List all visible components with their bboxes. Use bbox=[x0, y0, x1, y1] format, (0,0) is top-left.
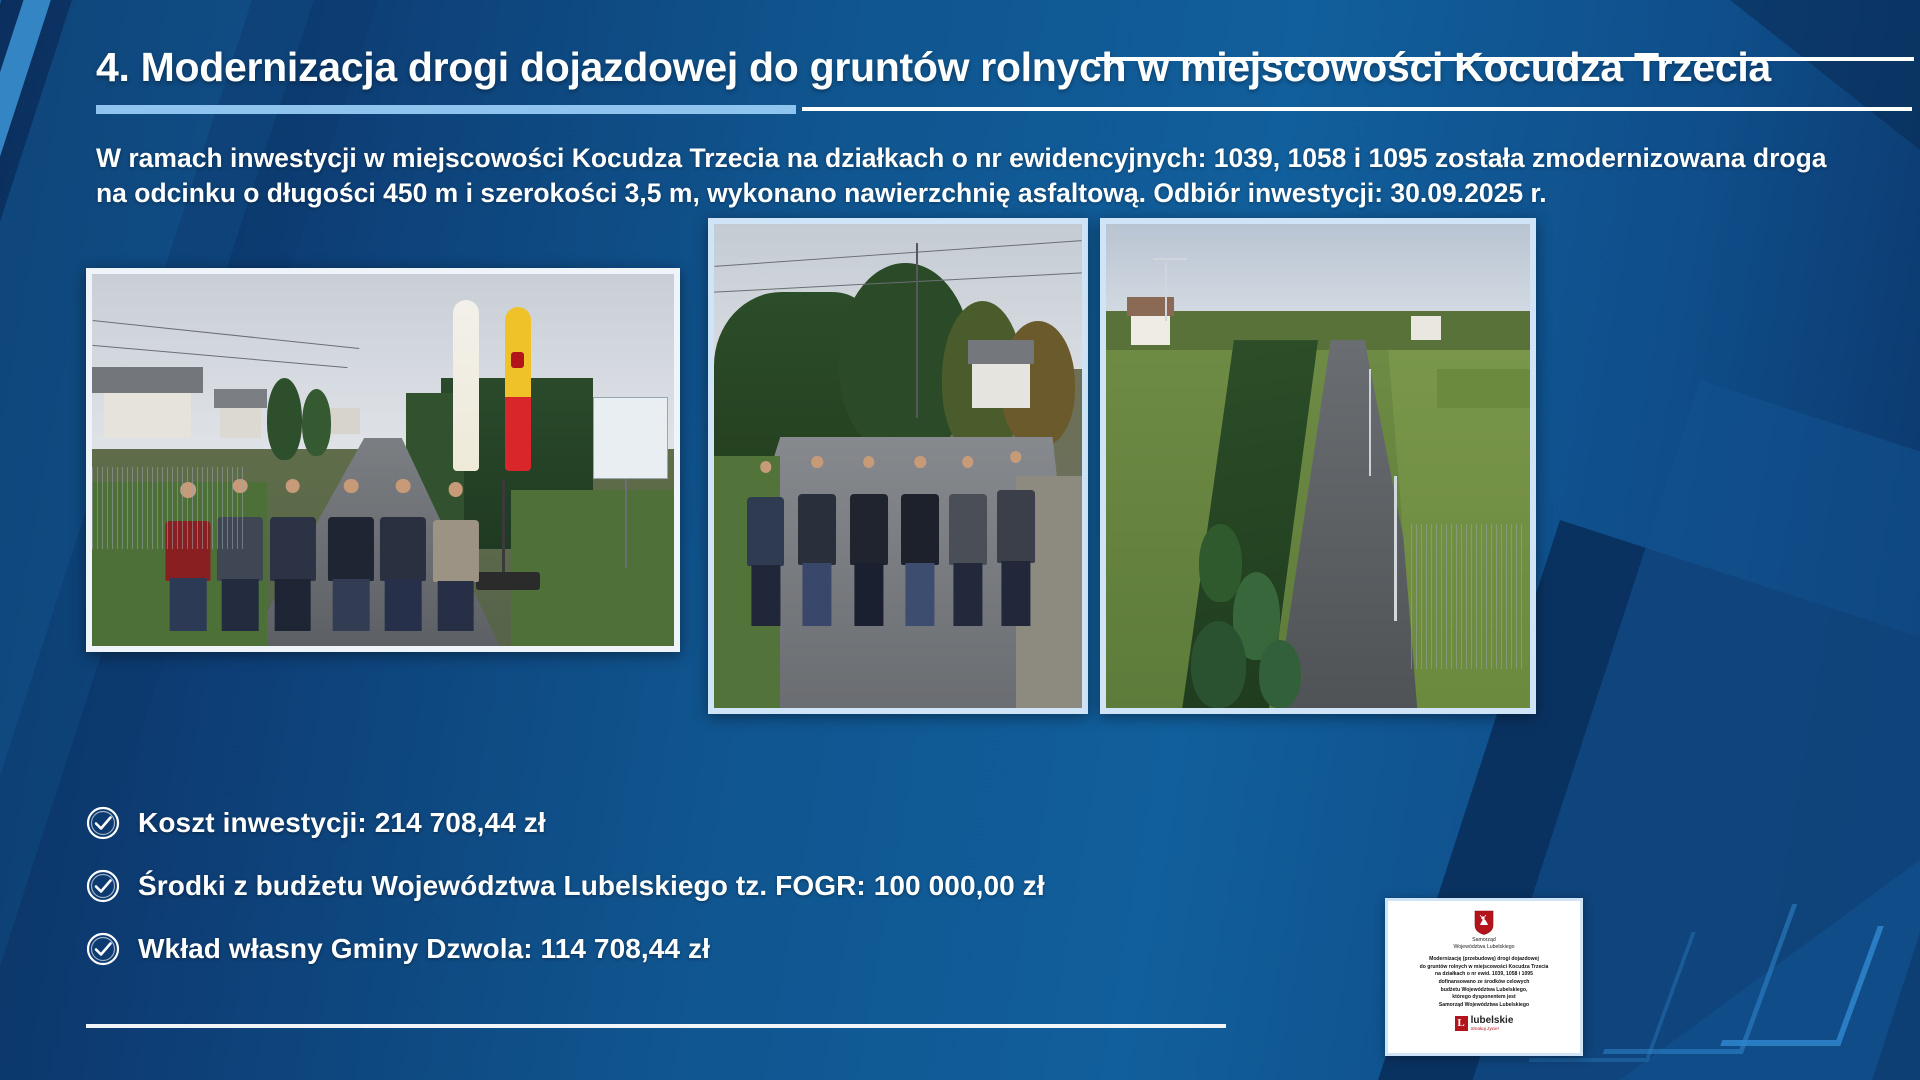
facts-list: Koszt inwestycji: 214 708,44 zł Środki z… bbox=[86, 806, 1045, 995]
plaque-body-line1: Modernizację (przebudowę) drogi dojazdow… bbox=[1420, 956, 1549, 964]
title-rules bbox=[96, 105, 1900, 119]
lubelskie-logo: L lubelskie Smakuj życie! bbox=[1455, 1016, 1514, 1032]
plaque-organisation: Samorząd Województwa Lubelskiego bbox=[1453, 937, 1514, 951]
logo-letter: L bbox=[1455, 1016, 1468, 1031]
plaque-body-line7: Samorząd Województwa Lubelskiego bbox=[1420, 1002, 1549, 1010]
plaque-body: Modernizację (przebudowę) drogi dojazdow… bbox=[1420, 956, 1549, 1009]
list-item: Środki z budżetu Województwa Lubelskiego… bbox=[86, 869, 1045, 903]
plaque-body-line6: którego dysponentem jest bbox=[1420, 994, 1549, 1002]
logo-wordmark: lubelskie bbox=[1471, 1016, 1514, 1026]
check-circle-icon bbox=[86, 806, 120, 840]
list-item-label: Wkład własny Gminy Dzwola: 114 708,44 zł bbox=[138, 933, 710, 965]
decor-corner-triangle bbox=[1620, 860, 1920, 1080]
lublin-crest-icon bbox=[1474, 910, 1494, 935]
list-item: Koszt inwestycji: 214 708,44 zł bbox=[86, 806, 1045, 840]
logo-tagline: Smakuj życie! bbox=[1471, 1026, 1514, 1032]
plaque-org-line1: Samorząd bbox=[1453, 937, 1514, 944]
decor-diagonal-band bbox=[0, 0, 67, 1080]
check-circle-icon bbox=[86, 869, 120, 903]
photo-group-on-road bbox=[708, 218, 1088, 714]
list-item-label: Koszt inwestycji: 214 708,44 zł bbox=[138, 807, 546, 839]
plaque-body-line5: budżetu Województwa Lubelskiego, bbox=[1420, 987, 1549, 995]
page-title: 4. Modernizacja drogi dojazdowej do grun… bbox=[96, 44, 1900, 91]
plaque-body-line3: na działkach o nr ewid. 1039, 1058 i 109… bbox=[1420, 971, 1549, 979]
title-rule-thin bbox=[802, 107, 1912, 111]
title-block: 4. Modernizacja drogi dojazdowej do grun… bbox=[96, 44, 1900, 119]
bottom-rule bbox=[86, 1024, 1226, 1028]
intro-paragraph: W ramach inwestycji w miejscowości Kocud… bbox=[96, 141, 1856, 211]
decor-diagonal-band bbox=[0, 0, 32, 1080]
decor-diagonal-band bbox=[0, 0, 25, 1080]
list-item-label: Środki z budżetu Województwa Lubelskiego… bbox=[138, 870, 1045, 902]
slide-root: 4. Modernizacja drogi dojazdowej do grun… bbox=[0, 0, 1920, 1080]
photo-group-at-banner bbox=[86, 268, 680, 652]
title-rule-thick bbox=[96, 105, 796, 114]
list-item: Wkład własny Gminy Dzwola: 114 708,44 zł bbox=[86, 932, 1045, 966]
check-circle-icon bbox=[86, 932, 120, 966]
plaque-body-line2: do gruntów rolnych w miejscowości Kocudz… bbox=[1420, 964, 1549, 972]
title-rule-top bbox=[1096, 57, 1914, 61]
plaque-body-line4: dofinansowano ze środków celowych bbox=[1420, 979, 1549, 987]
photo-road-aerial bbox=[1100, 218, 1536, 714]
plaque-org-line2: Województwa Lubelskiego bbox=[1453, 944, 1514, 951]
info-plaque: Samorząd Województwa Lubelskiego Moderni… bbox=[1385, 898, 1583, 1056]
